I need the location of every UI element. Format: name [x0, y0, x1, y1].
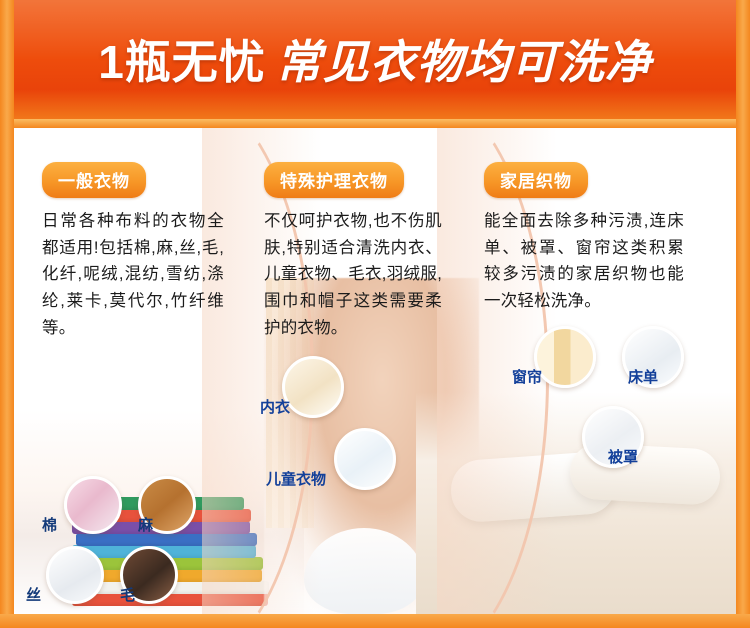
poster-header: 1瓶无忧常见衣物均可洗净	[0, 0, 750, 128]
bubble-underwear-photo	[282, 356, 344, 418]
bubble-label-underwear: 内衣	[260, 396, 290, 417]
title-part-2: 常见衣物均可洗净	[276, 36, 652, 88]
header-underline	[14, 119, 736, 128]
section-home-textiles: 家居织物 能全面去除多种污渍,连床单、被罩、窗帘这类积累较多污渍的家居织物也能一…	[462, 128, 730, 614]
bubble-label-curtain: 窗帘	[512, 366, 542, 387]
section-description-special-care: 不仅呵护衣物,也不伤肌肤,特别适合清洗内衣、儿童衣物、毛衣,羽绒服,围巾和帽子这…	[264, 208, 442, 342]
section-title-general: 一般衣物	[42, 162, 146, 198]
bubble-kids-clothes-photo	[334, 428, 396, 490]
section-title-home-wrap: 家居织物	[484, 162, 588, 198]
section-title-special-wrap: 特殊护理衣物	[264, 162, 404, 198]
bubble-silk-photo	[46, 546, 104, 604]
title-part-1: 1瓶无忧	[98, 36, 266, 88]
promo-poster: 1瓶无忧常见衣物均可洗净 一般衣物 日常各种布料的衣物全都适用!包括棉,麻,丝,…	[0, 0, 750, 628]
poster-body: 一般衣物 日常各种布料的衣物全都适用!包括棉,麻,丝,毛,化纤,呢绒,混纺,雪纺…	[14, 128, 736, 614]
bubble-curtain-photo	[534, 326, 596, 388]
bubble-label-wool: 毛	[120, 584, 135, 605]
section-description-home-textiles: 能全面去除多种污渍,连床单、被罩、窗帘这类积累较多污渍的家居织物也能一次轻松洗净…	[484, 208, 684, 315]
frame-bottom-border	[0, 614, 750, 628]
frame-left-border	[0, 0, 14, 628]
section-general-clothes: 一般衣物 日常各种布料的衣物全都适用!包括棉,麻,丝,毛,化纤,呢绒,混纺,雪纺…	[20, 128, 232, 614]
bubble-label-silk: 丝	[26, 584, 41, 605]
section-title-home-textiles: 家居织物	[484, 162, 588, 198]
page-title: 1瓶无忧常见衣物均可洗净	[0, 26, 750, 92]
section-special-care: 特殊护理衣物 不仅呵护衣物,也不伤肌肤,特别适合清洗内衣、儿童衣物、毛衣,羽绒服…	[242, 128, 452, 614]
bubble-label-cotton: 棉	[42, 514, 57, 535]
section-title-special-care: 特殊护理衣物	[264, 162, 404, 198]
section-title-general-wrap: 一般衣物	[42, 162, 146, 198]
bubble-label-quilt-cover: 被罩	[608, 446, 638, 467]
frame-right-border	[736, 0, 750, 628]
section-description-general: 日常各种布料的衣物全都适用!包括棉,麻,丝,毛,化纤,呢绒,混纺,雪纺,涤纶,莱…	[42, 208, 224, 342]
bubble-label-bedsheet: 床单	[628, 366, 658, 387]
bubble-label-linen: 麻	[138, 514, 153, 535]
bubble-label-kids-clothes: 儿童衣物	[266, 468, 326, 489]
bubble-cotton-photo	[64, 476, 122, 534]
